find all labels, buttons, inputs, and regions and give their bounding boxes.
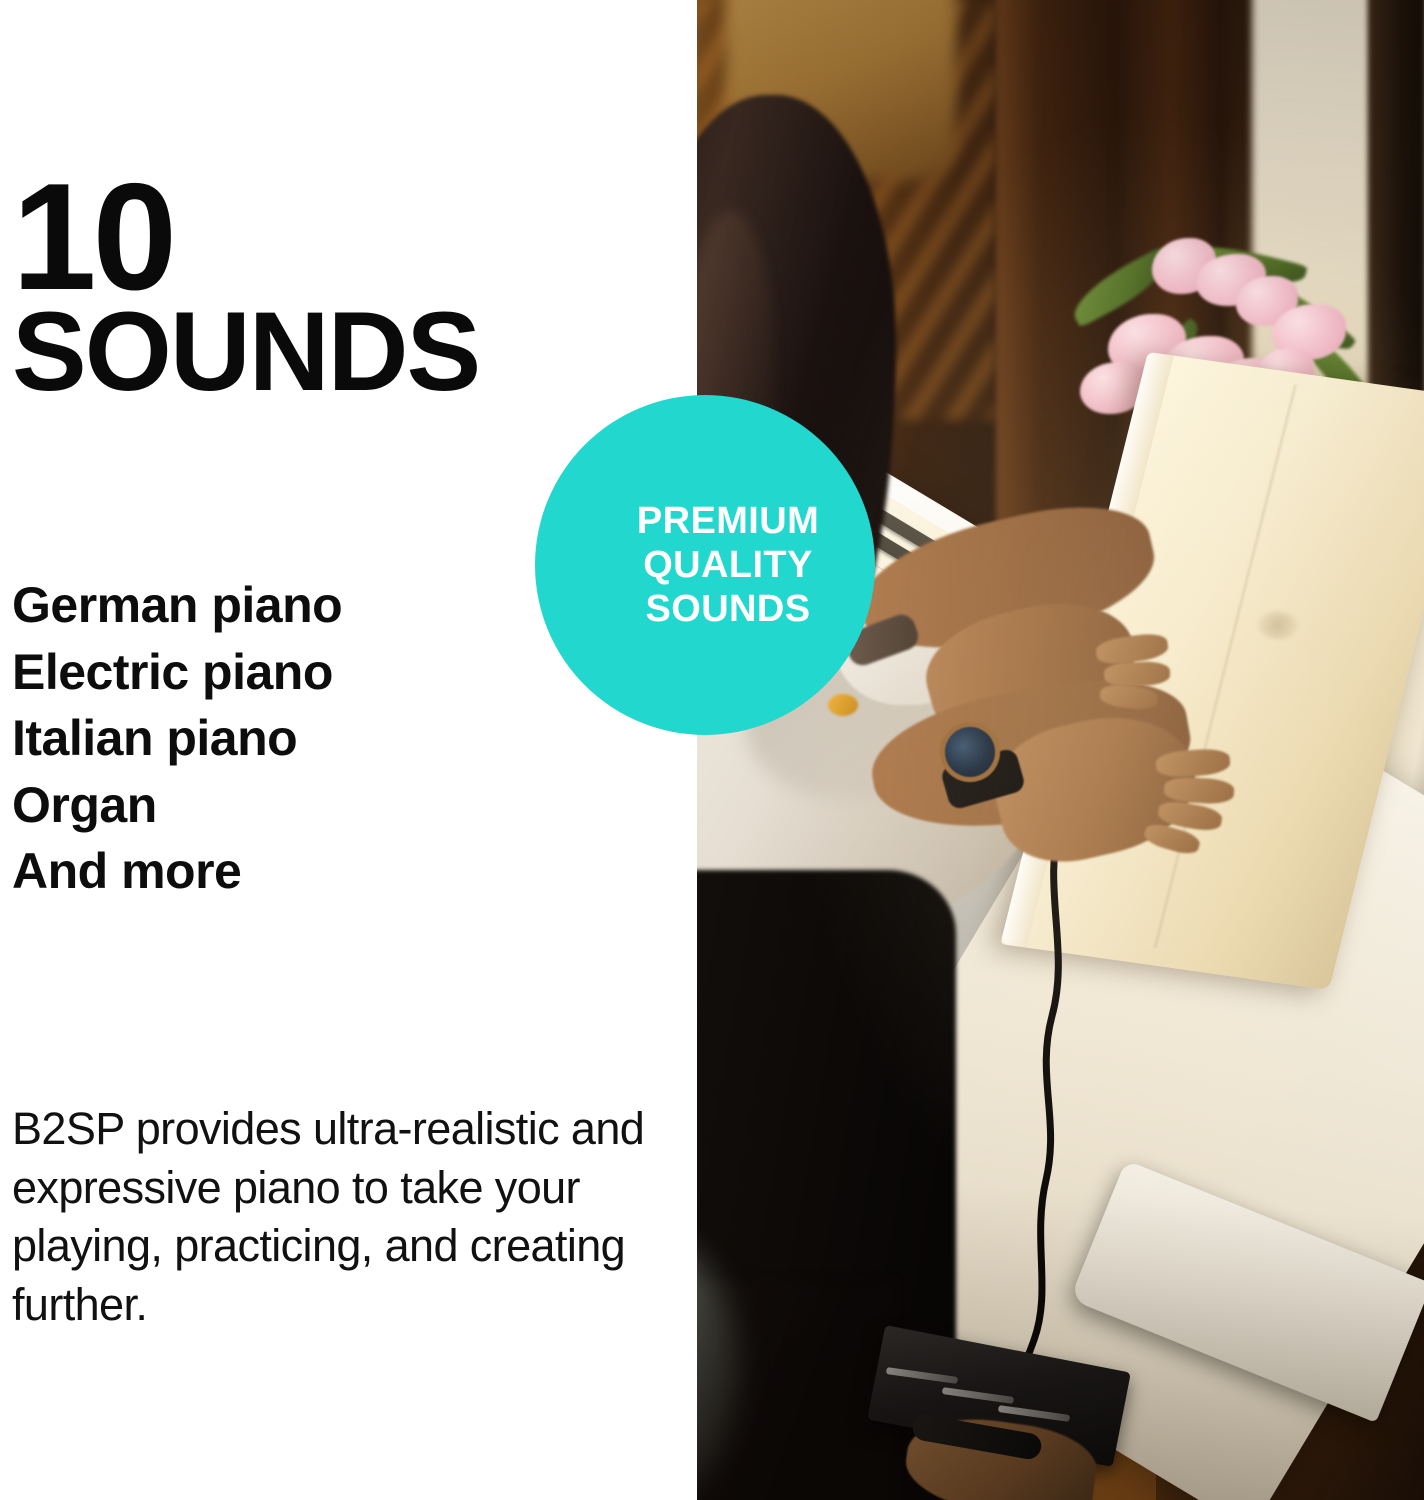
badge-line-2: QUALITY xyxy=(637,543,819,587)
text-panel: 10 SOUNDS German piano Electric piano It… xyxy=(0,0,697,1500)
headline-number: 10 xyxy=(12,168,479,308)
list-item: Italian piano xyxy=(12,705,342,772)
badge-line-1: PREMIUM xyxy=(637,499,819,543)
list-item: German piano xyxy=(12,572,342,639)
badge-line-3: SOUNDS xyxy=(637,587,819,631)
product-photo: KORG xyxy=(696,0,1424,1500)
headline-word: SOUNDS xyxy=(12,300,479,403)
description-paragraph: B2SP provides ultra-realistic and expres… xyxy=(12,1100,652,1334)
premium-quality-badge: PREMIUM QUALITY SOUNDS xyxy=(535,395,875,735)
product-feature-banner: KORG xyxy=(0,0,1424,1500)
person-ring xyxy=(828,694,858,716)
list-item: Organ xyxy=(12,772,342,839)
sound-list: German piano Electric piano Italian pian… xyxy=(12,572,342,905)
page-title: 10 SOUNDS xyxy=(12,168,479,403)
badge-text: PREMIUM QUALITY SOUNDS xyxy=(591,499,819,631)
list-item: And more xyxy=(12,838,342,905)
list-item: Electric piano xyxy=(12,639,342,706)
